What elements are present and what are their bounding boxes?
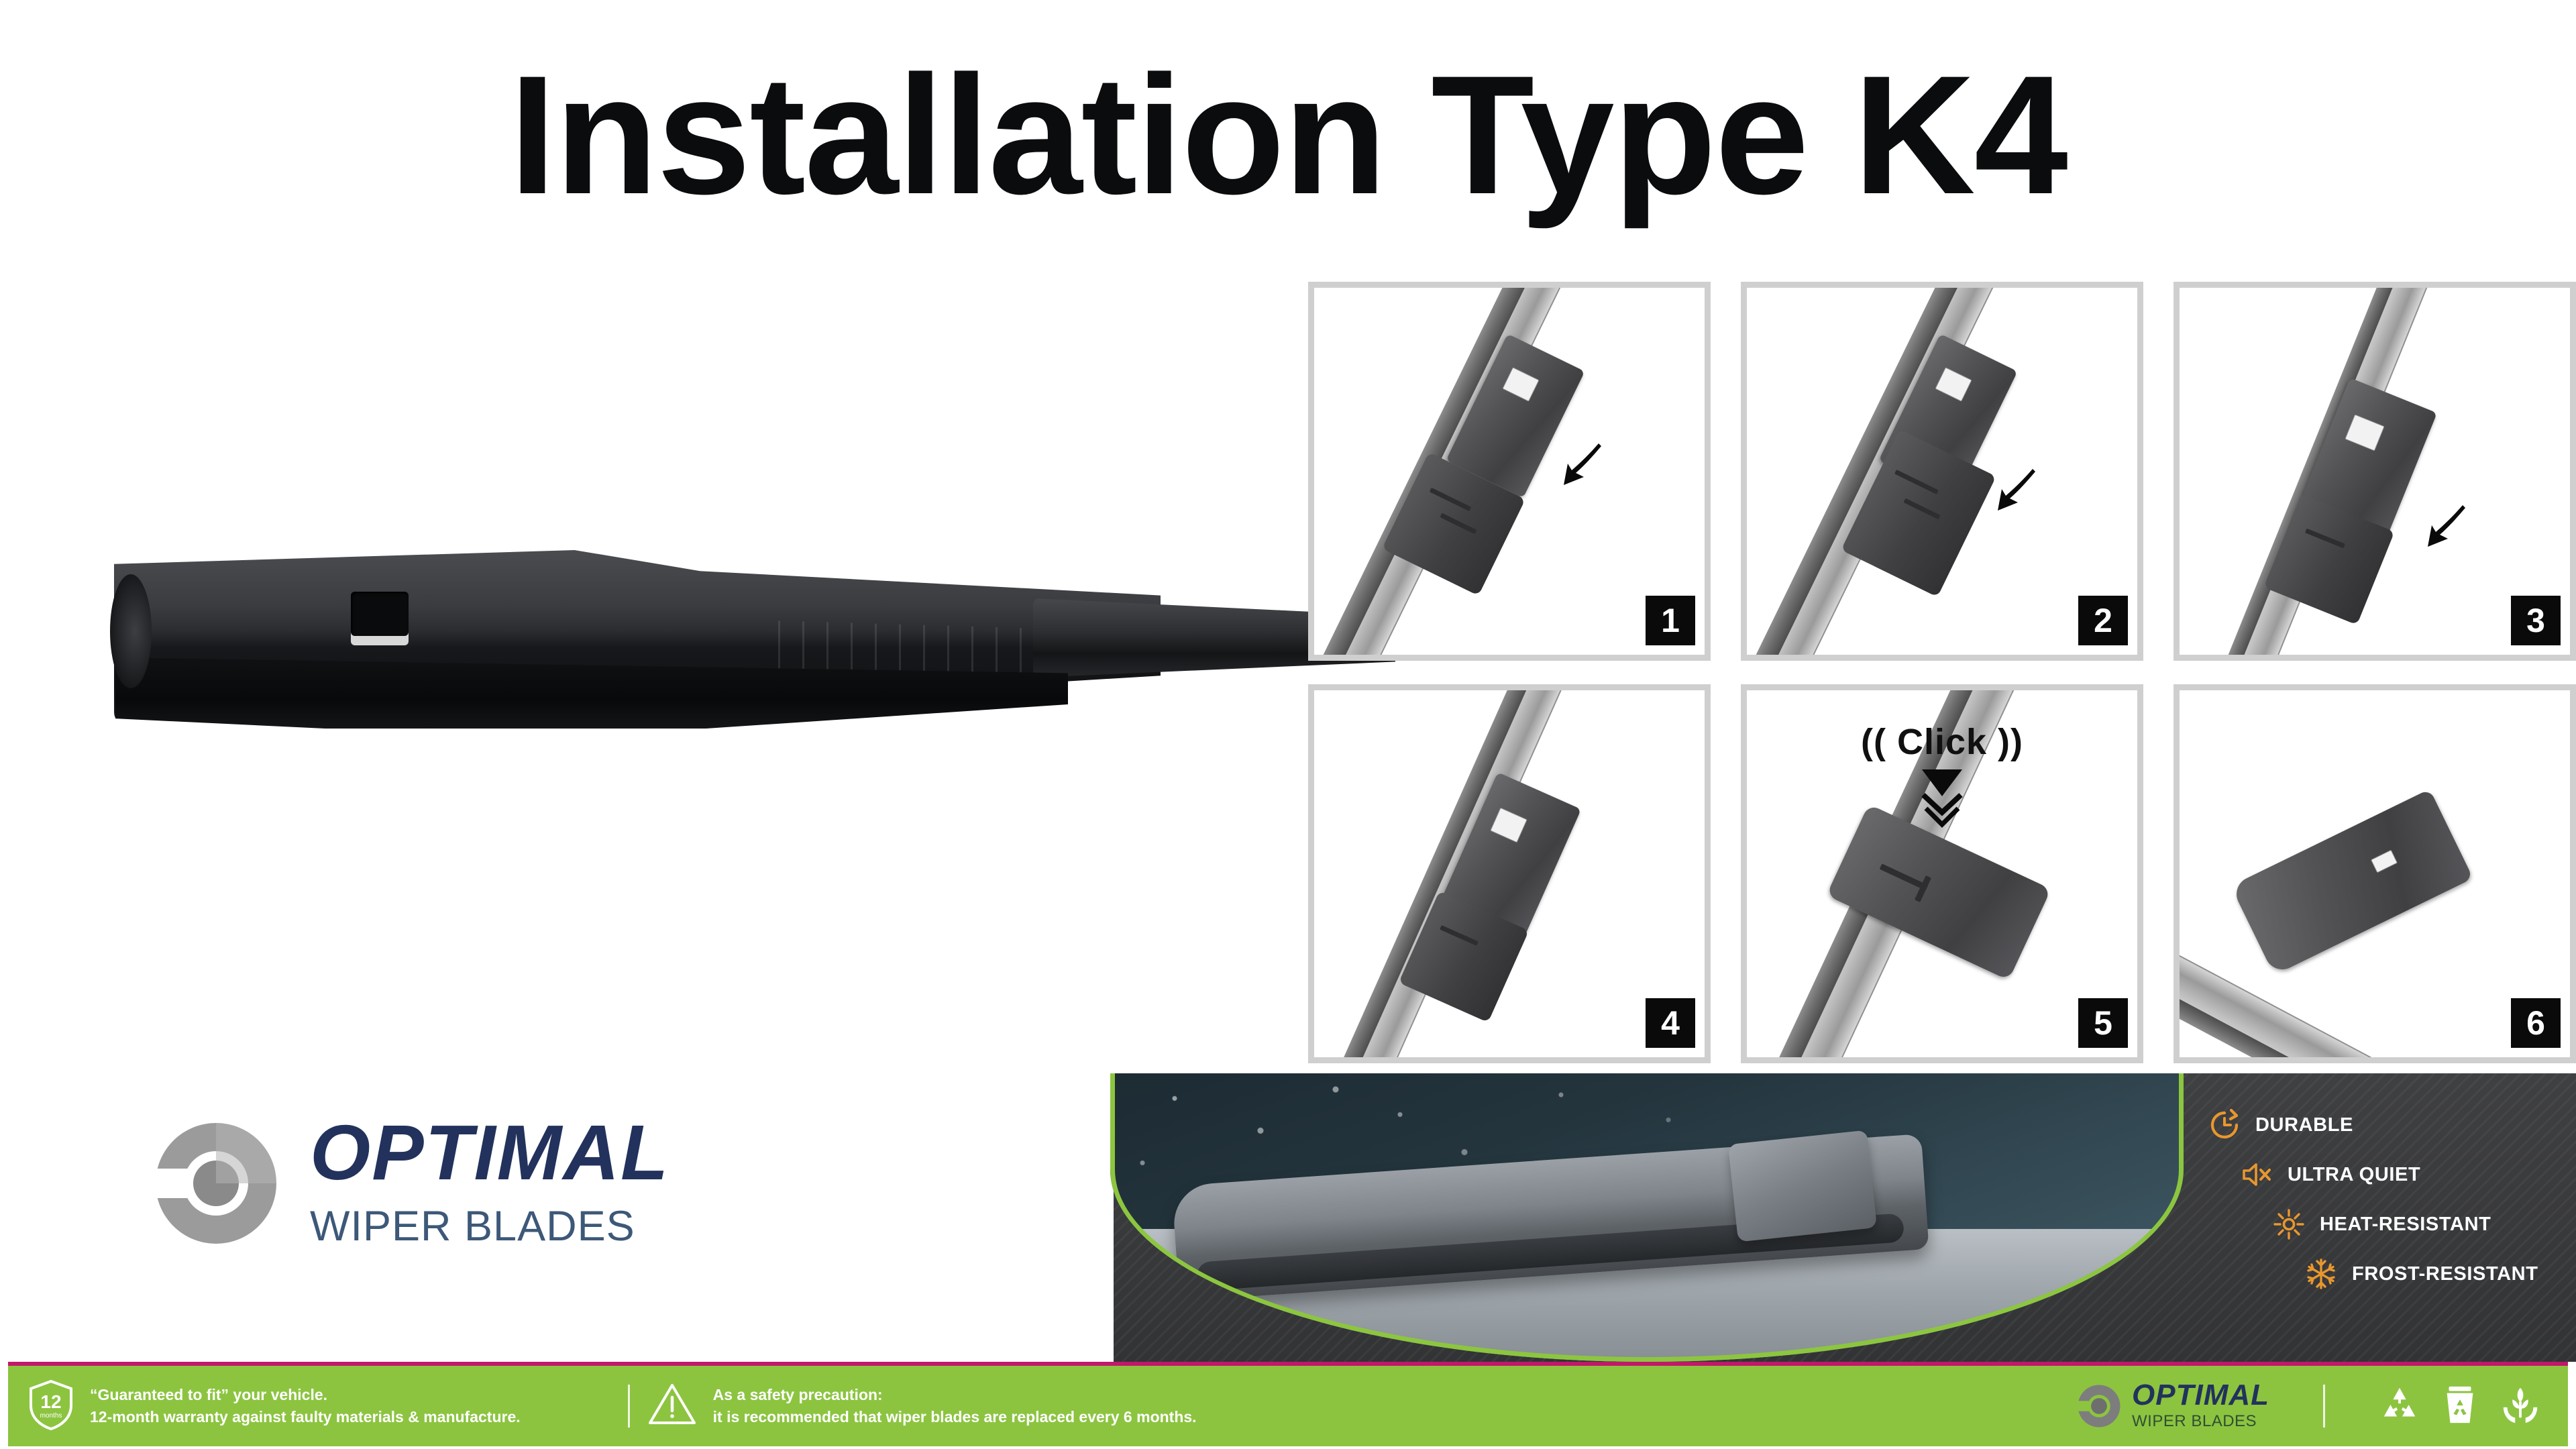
click-indicator: (( Click )) — [1861, 721, 2023, 833]
footer-optimal-wordmark: OPTIMAL — [2132, 1381, 2269, 1410]
down-chevron-icon — [1909, 765, 1976, 830]
hero-product-photo — [80, 456, 1288, 832]
direction-arrow-icon — [2413, 493, 2477, 557]
step-panel-4: 4 — [1308, 684, 1711, 1063]
installation-steps-grid: 1 2 — [1308, 282, 2576, 1063]
optimal-tagline: WIPER BLADES — [310, 1198, 669, 1255]
step-panel-5: (( Click )) 5 — [1741, 684, 2143, 1063]
optimal-logo-text: OPTIMAL WIPER BLADES — [310, 1114, 669, 1255]
feature-item-frost-resistant: FROST-RESISTANT — [2207, 1249, 2569, 1299]
warranty-text: “Guaranteed to fit” your vehicle. 12-mon… — [90, 1384, 521, 1429]
warranty-line-1: “Guaranteed to fit” your vehicle. — [90, 1384, 521, 1406]
footer-bar: 12 months “Guaranteed to fit” your vehic… — [8, 1362, 2568, 1446]
sun-icon — [2271, 1207, 2306, 1242]
recycle-icon — [2379, 1384, 2420, 1429]
safety-line-2: it is recommended that wiper blades are … — [713, 1406, 1197, 1428]
feature-label: HEAT-RESISTANT — [2320, 1214, 2491, 1236]
step-number-badge: 4 — [1646, 998, 1695, 1048]
direction-arrow-icon — [1549, 431, 1613, 496]
warranty-shield-icon: 12 months — [27, 1379, 75, 1434]
step-number-badge: 2 — [2078, 596, 2128, 645]
step-number-badge: 6 — [2511, 998, 2561, 1048]
optimal-logo-mark-icon — [149, 1116, 283, 1250]
direction-arrow-icon — [1983, 457, 2047, 521]
feature-label: DURABLE — [2255, 1114, 2353, 1136]
clock-history-icon — [2207, 1108, 2242, 1142]
step-panel-6: 6 — [2173, 684, 2576, 1063]
feature-item-heat-resistant: HEAT-RESISTANT — [2207, 1199, 2569, 1249]
warning-triangle-icon — [647, 1381, 697, 1432]
wiper-connector-slot — [351, 592, 409, 645]
step-number-badge: 1 — [1646, 596, 1695, 645]
step-number-badge: 5 — [2078, 998, 2128, 1048]
warranty-line-2: 12-month warranty against faulty materia… — [90, 1406, 521, 1428]
safety-line-1: As a safety precaution: — [713, 1384, 1197, 1406]
feature-label: FROST-RESISTANT — [2352, 1263, 2538, 1285]
footer-divider-2 — [2323, 1385, 2325, 1428]
step-number-badge: 3 — [2511, 596, 2561, 645]
svg-text:12: 12 — [40, 1391, 61, 1412]
svg-text:months: months — [40, 1412, 62, 1419]
footer-logo-mark-icon — [2076, 1383, 2123, 1430]
installation-guide-page: Installation Type K4 — [0, 0, 2576, 1449]
banner-wiper-connector — [1728, 1130, 1877, 1242]
optimal-logo: OPTIMAL WIPER BLADES — [149, 1108, 753, 1296]
eco-icons-group — [2379, 1384, 2541, 1429]
recycle-bin-icon — [2440, 1384, 2479, 1429]
safety-block: As a safety precaution: it is recommende… — [630, 1381, 1197, 1432]
step-panel-1: 1 — [1308, 282, 1711, 661]
connector-notch-right — [236, 814, 256, 836]
hands-plant-icon — [2500, 1384, 2541, 1429]
speaker-mute-icon — [2239, 1157, 2274, 1192]
step-panel-3: 3 — [2173, 282, 2576, 661]
page-title: Installation Type K4 — [0, 47, 2576, 225]
feature-item-durable: DURABLE — [2207, 1100, 2569, 1150]
safety-text: As a safety precaution: it is recommende… — [713, 1384, 1197, 1429]
feature-label: ULTRA QUIET — [2288, 1164, 2420, 1186]
feature-list: DURABLE ULTRA QUIET — [2207, 1100, 2569, 1299]
wiper-on-windscreen-photo — [1110, 1073, 2184, 1362]
feature-item-ultra-quiet: ULTRA QUIET — [2207, 1150, 2569, 1199]
step-panel-2: 2 — [1741, 282, 2143, 661]
wiper-connector-endcap — [110, 574, 152, 688]
snowflake-icon — [2304, 1256, 2339, 1291]
footer-optimal-logo: OPTIMAL WIPER BLADES — [2076, 1381, 2269, 1432]
footer-optimal-tagline: WIPER BLADES — [2132, 1412, 2269, 1432]
optimal-wordmark: OPTIMAL — [310, 1114, 669, 1191]
connector-notch-left — [181, 814, 201, 836]
warranty-block: 12 months “Guaranteed to fit” your vehic… — [8, 1379, 521, 1434]
